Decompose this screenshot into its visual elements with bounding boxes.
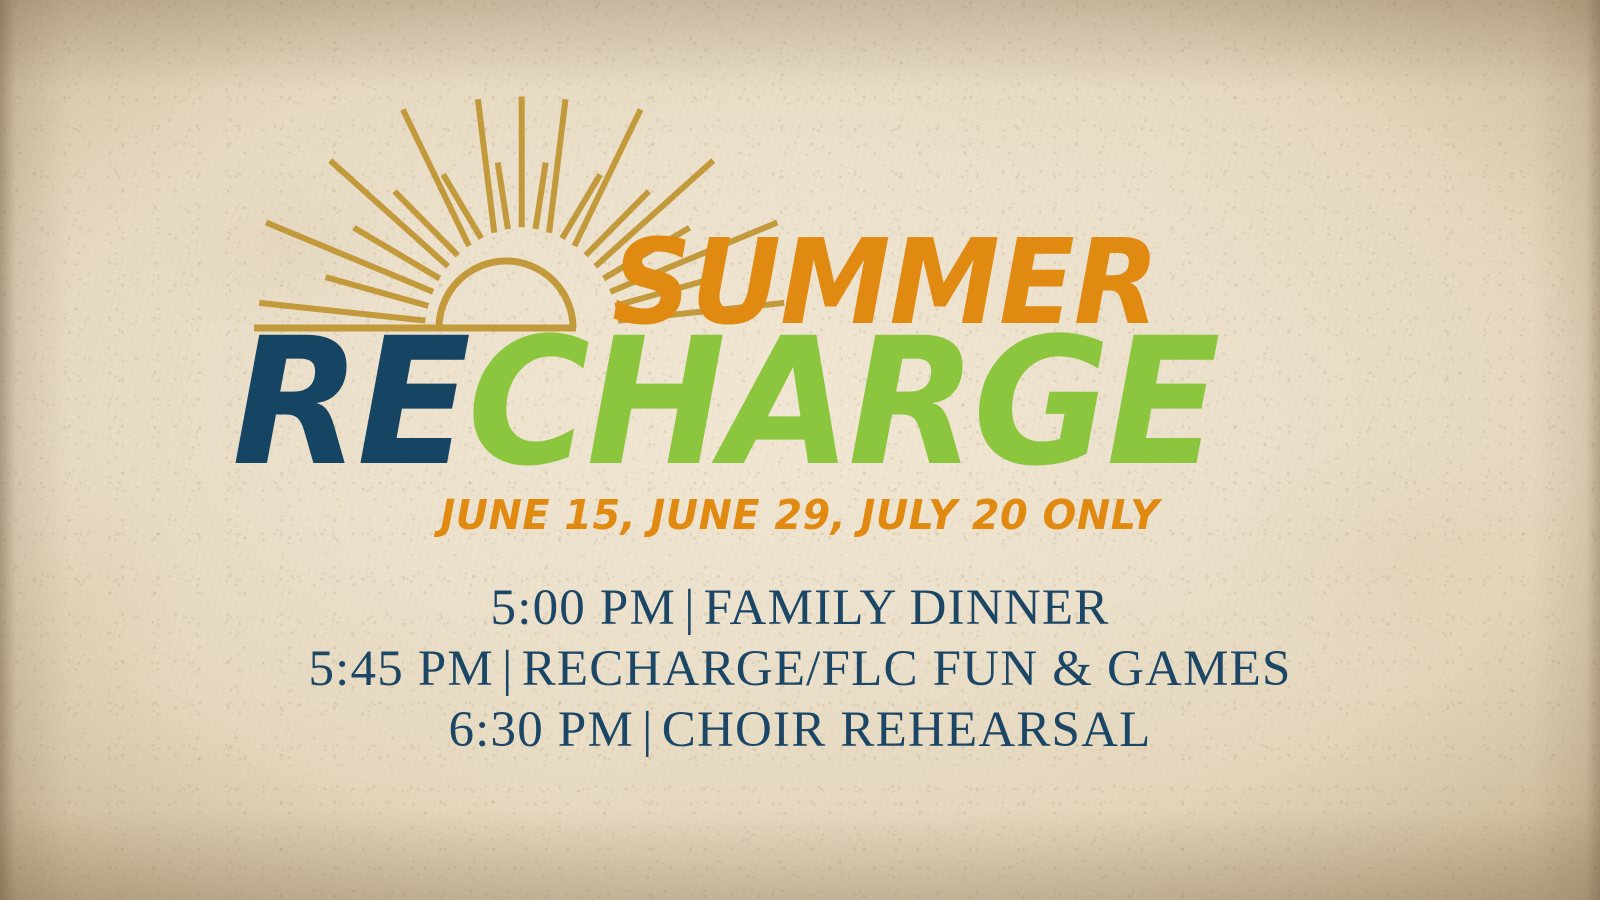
schedule-item: 6:30 PM|CHOIR REHEARSAL [0, 700, 1600, 761]
title-recharge-re: RE [232, 300, 467, 505]
poster-content: SUMMER RECHARGE JUNE 15, JUNE 29, JULY 2… [0, 0, 1600, 900]
schedule-activity: CHOIR REHEARSAL [662, 702, 1152, 758]
schedule-activity: FAMILY DINNER [704, 580, 1110, 636]
title-recharge-charge: CHARGE [467, 300, 1216, 505]
schedule-separator: | [676, 580, 704, 636]
schedule-list: 5:00 PM|FAMILY DINNER 5:45 PM|RECHARGE/F… [0, 578, 1600, 762]
schedule-item: 5:45 PM|RECHARGE/FLC FUN & GAMES [0, 639, 1600, 700]
schedule-separator: | [494, 641, 522, 697]
dates-line: JUNE 15, JUNE 29, JULY 20 ONLY [24, 494, 1576, 537]
schedule-time: 5:45 PM [308, 641, 494, 697]
title-recharge: RECHARGE [232, 324, 1217, 482]
poster-canvas: SUMMER RECHARGE JUNE 15, JUNE 29, JULY 2… [0, 0, 1600, 900]
schedule-activity: RECHARGE/FLC FUN & GAMES [522, 641, 1292, 697]
schedule-time: 5:00 PM [491, 580, 677, 636]
schedule-separator: | [634, 702, 662, 758]
schedule-item: 5:00 PM|FAMILY DINNER [0, 578, 1600, 639]
schedule-time: 6:30 PM [448, 702, 634, 758]
